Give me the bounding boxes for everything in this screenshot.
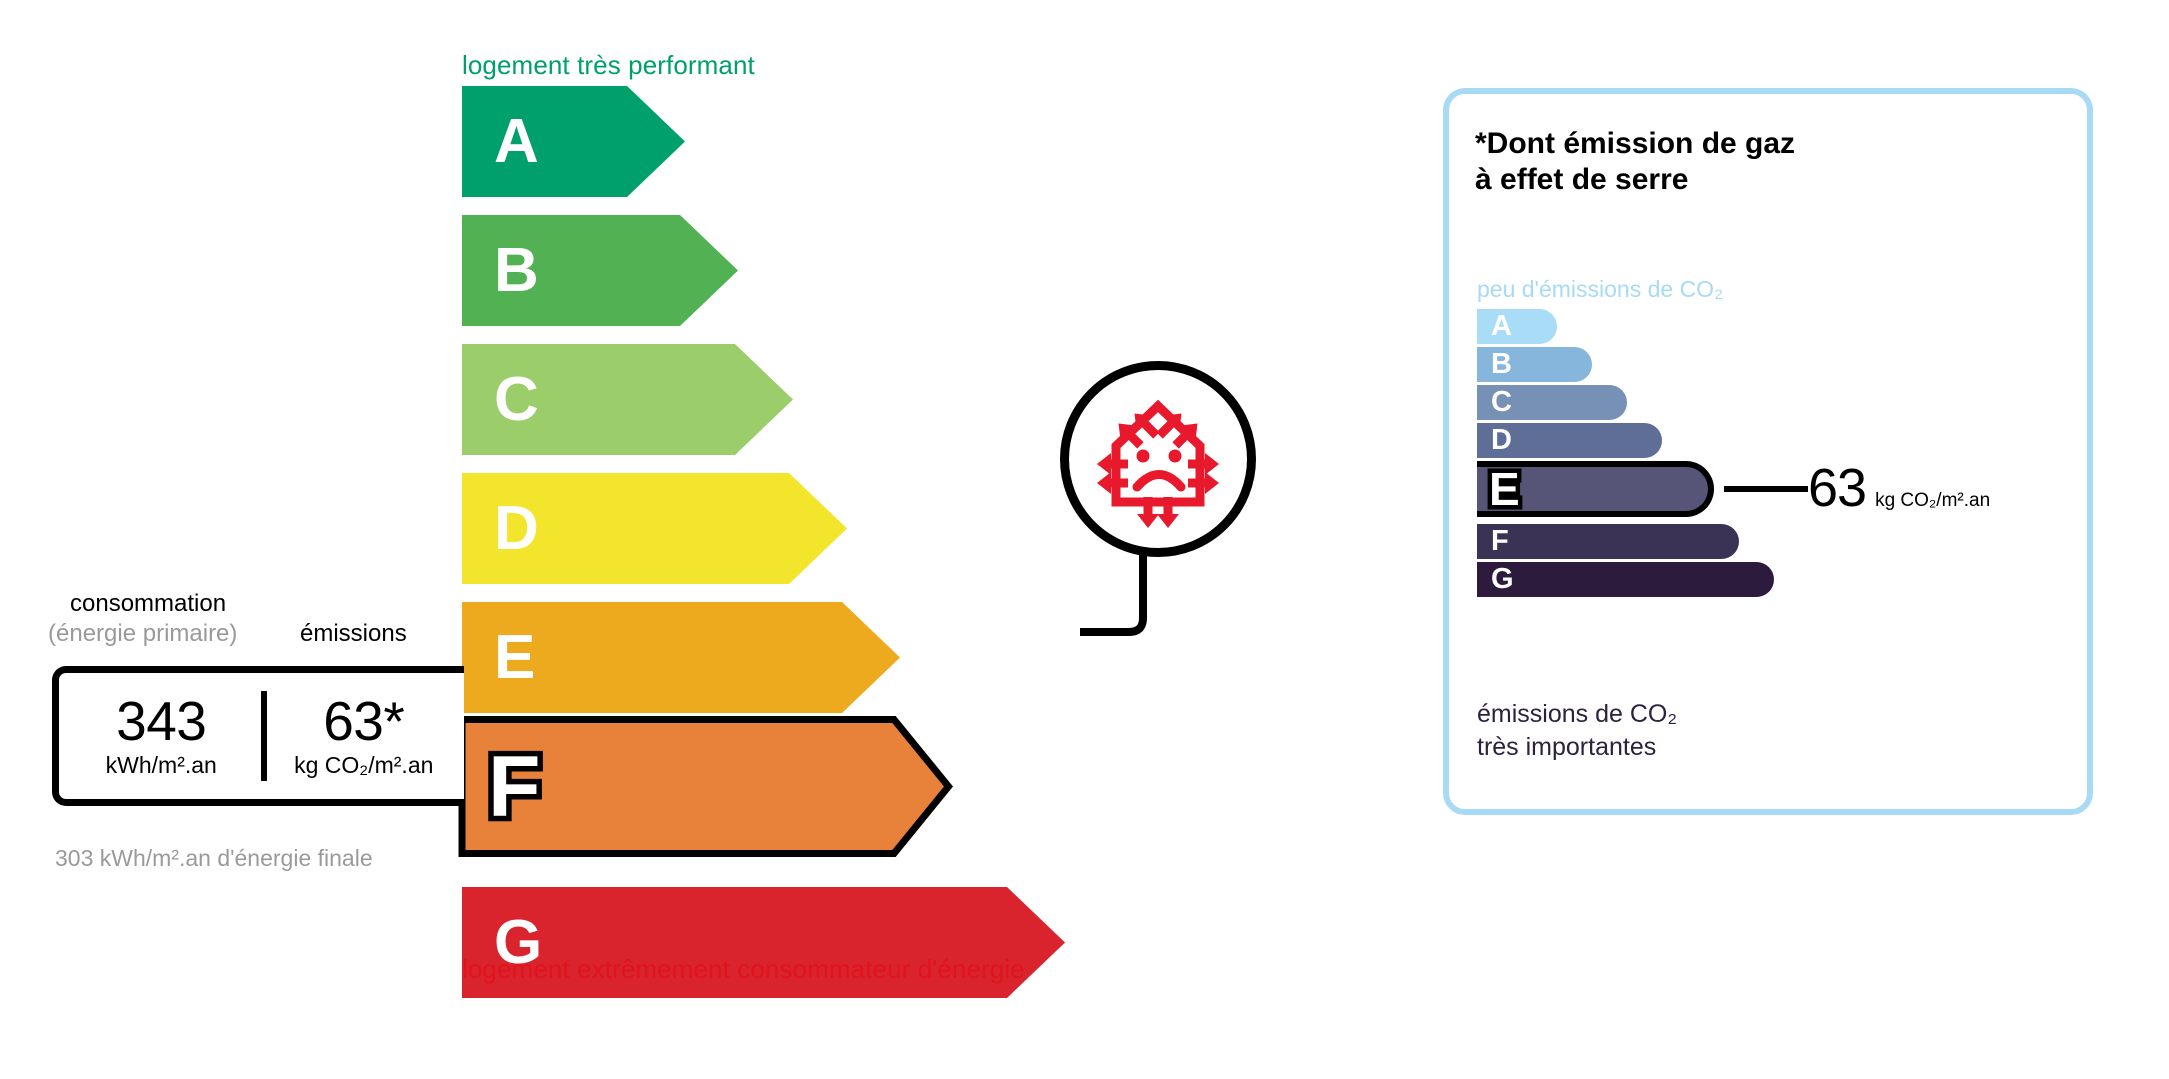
co2-bar-a: A	[1477, 309, 1557, 344]
emissions-cell: 63* kg CO₂/m².an	[264, 673, 464, 799]
consumption-sub-label: (énergie primaire)	[48, 620, 237, 648]
co2-bar-c: C	[1477, 385, 1627, 420]
co2-bar-letter-e: E	[1489, 466, 1520, 512]
co2-top-caption: peu d'émissions de CO₂	[1477, 276, 1723, 303]
energy-band-e: E	[462, 602, 900, 713]
energy-band-f: F	[462, 716, 952, 857]
energy-band-a: A	[462, 86, 685, 197]
emissions-value: 63*	[323, 693, 404, 749]
value-box: 343 kWh/m².an 63* kg CO₂/m².an	[52, 666, 464, 806]
energy-band-letter-a: A	[494, 111, 539, 173]
scale-top-caption: logement très performant	[462, 50, 755, 81]
eye-left-icon	[1137, 450, 1150, 463]
consumption-value: 343	[116, 693, 206, 749]
co2-bar-e: E	[1477, 461, 1714, 517]
co2-bar-g: G	[1477, 562, 1774, 597]
consumption-label: consommation	[70, 590, 226, 618]
co2-bar-f: F	[1477, 524, 1739, 559]
co2-bar-letter-g: G	[1491, 565, 1514, 594]
sad-house-badge	[1060, 361, 1256, 557]
co2-bar-letter-a: A	[1491, 312, 1512, 341]
co2-emissions-panel: *Dont émission de gaz à effet de serre p…	[1443, 88, 2093, 815]
energy-performance-scale: logement très performant ABCDEFG logemen…	[0, 0, 1300, 1079]
co2-callout-line	[1724, 486, 1808, 492]
sad-house-heat-loss-icon	[1083, 384, 1233, 534]
scale-bottom-caption: logement extrêmement consommateur d'éner…	[462, 954, 1025, 985]
co2-bar-letter-d: D	[1491, 426, 1512, 455]
co2-bar-letter-c: C	[1491, 388, 1512, 417]
co2-bar-letter-f: F	[1491, 527, 1509, 556]
energy-band-d: D	[462, 473, 847, 584]
consumption-unit: kWh/m².an	[106, 752, 217, 780]
badge-connector-line	[1080, 548, 1200, 644]
co2-bar-letter-b: B	[1491, 350, 1512, 379]
co2-bar-b: B	[1477, 347, 1592, 382]
co2-value-number: 63	[1808, 461, 1866, 515]
eye-right-icon	[1169, 450, 1182, 463]
co2-panel-title: *Dont émission de gaz à effet de serre	[1475, 126, 1795, 198]
dpe-energy-label: logement très performant ABCDEFG logemen…	[0, 0, 2169, 1079]
co2-bar-d: D	[1477, 423, 1662, 458]
emissions-unit: kg CO₂/m².an	[294, 752, 433, 780]
energy-band-letter-e: E	[494, 627, 535, 689]
energy-band-letter-c: C	[494, 369, 539, 431]
energy-band-letter-f: F	[488, 744, 541, 830]
energy-band-c: C	[462, 344, 793, 455]
co2-bottom-caption: émissions de CO₂ très importantes	[1477, 698, 1677, 763]
energy-band-b: B	[462, 215, 738, 326]
co2-value-callout: 63 kg CO₂/m².an	[1808, 461, 1990, 515]
consumption-cell: 343 kWh/m².an	[59, 673, 264, 799]
co2-value-unit: kg CO₂/m².an	[1875, 490, 1990, 512]
energy-band-letter-b: B	[494, 240, 539, 302]
final-energy-note: 303 kWh/m².an d'énergie finale	[55, 843, 373, 873]
energy-band-letter-d: D	[494, 498, 539, 560]
emissions-label: émissions	[300, 620, 407, 648]
frown-icon	[1137, 475, 1181, 488]
